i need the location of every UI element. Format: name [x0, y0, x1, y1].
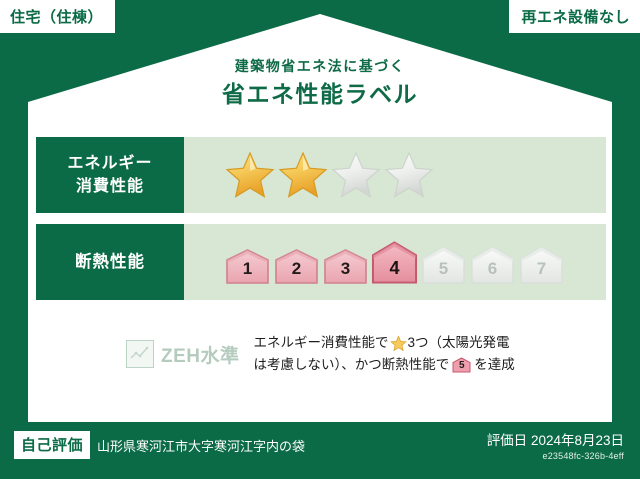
insulation-grade-5: 5	[420, 244, 467, 286]
star-filled-icon	[224, 149, 276, 201]
row-energy-label-line1: エネルギー	[67, 155, 152, 172]
insulation-grade-7: 7	[518, 244, 565, 286]
footer-left: 自己評価 山形県寒河江市大字寒河江字内の袋	[14, 431, 305, 459]
insulation-grade-1: 1	[224, 246, 271, 286]
building-type-tag-label: 住宅（住棟）	[10, 6, 103, 27]
insulation-grade-2: 2	[273, 246, 320, 286]
zeh-criteria-line1-suffix: 3つ（太陽光発電	[408, 332, 510, 354]
insulation-grade-4-number: 4	[371, 258, 418, 279]
insulation-grade-5-number: 5	[420, 259, 467, 279]
building-type-tag: 住宅（住棟）	[0, 0, 115, 33]
row-energy-label-line2: 消費性能	[76, 178, 144, 195]
row-energy-consumption-label: エネルギー 消費性能	[36, 137, 184, 213]
page-title: 建築物省エネ法に基づく 省エネ性能ラベル	[0, 56, 640, 109]
property-address: 山形県寒河江市大字寒河江字内の袋	[97, 436, 305, 455]
evaluation-id: e23548fc-326b-4eff	[487, 451, 624, 461]
zeh-criteria-line1-prefix: エネルギー消費性能で	[254, 332, 389, 354]
zeh-label: ZEH水準	[161, 341, 240, 368]
insulation-grade-1-number: 1	[224, 259, 271, 279]
zeh-badge: ZEH水準	[126, 340, 240, 368]
zeh-note: ZEH水準 エネルギー消費性能で 3つ（太陽光発電 は考慮しない）、かつ断熱性能…	[126, 332, 515, 376]
evaluation-date: 評価日 2024年8月23日	[487, 429, 624, 449]
insulation-grade-scale: 1 2 3	[224, 239, 565, 286]
title-subtitle: 建築物省エネ法に基づく	[0, 56, 640, 76]
footer: 自己評価 山形県寒河江市大字寒河江字内の袋 評価日 2024年8月23日 e23…	[0, 422, 640, 479]
zeh-criteria-line-2: は考慮しない）、かつ断熱性能で 5 を達成	[254, 354, 515, 376]
title-main: 省エネ性能ラベル	[0, 79, 640, 109]
insulation-grade-4: 4	[371, 239, 418, 286]
inline-house-icon: 5	[452, 357, 471, 373]
star-filled-icon	[277, 149, 329, 201]
insulation-grade-3-number: 3	[322, 259, 369, 279]
insulation-grade-6-number: 6	[469, 259, 516, 279]
inline-house-grade: 5	[459, 356, 465, 374]
self-assessment-badge: 自己評価	[14, 431, 90, 459]
renewable-energy-tag: 再エネ設備なし	[509, 0, 640, 33]
insulation-grade-6: 6	[469, 244, 516, 286]
insulation-grade-7-number: 7	[518, 259, 565, 279]
zeh-criteria-line-1: エネルギー消費性能で 3つ（太陽光発電	[254, 332, 515, 354]
insulation-grade-2-number: 2	[273, 259, 320, 279]
insulation-grade-3: 3	[322, 246, 369, 286]
star-rating	[224, 149, 435, 201]
zeh-chart-icon	[126, 340, 154, 368]
renewable-energy-tag-label: 再エネ設備なし	[521, 6, 630, 27]
inline-star-icon	[390, 335, 407, 352]
row-insulation: 断熱性能 1	[36, 224, 606, 300]
row-insulation-label: 断熱性能	[36, 224, 184, 300]
row-insulation-label-text: 断熱性能	[75, 251, 145, 274]
zeh-criteria-line2-suffix: を達成	[474, 354, 515, 376]
energy-performance-label: 住宅（住棟） 再エネ設備なし 建築物省エネ法に基づく 省エネ性能ラベル エネルギ…	[0, 0, 640, 479]
row-energy-consumption-body	[184, 137, 606, 213]
star-empty-icon	[383, 149, 435, 201]
zeh-criteria-text: エネルギー消費性能で 3つ（太陽光発電 は考慮しない）、かつ断熱性能で 5 を達…	[254, 332, 515, 376]
row-energy-consumption: エネルギー 消費性能	[36, 137, 606, 213]
footer-right: 評価日 2024年8月23日 e23548fc-326b-4eff	[487, 429, 624, 461]
row-insulation-body: 1 2 3	[184, 224, 606, 300]
metrics-panel: エネルギー 消費性能	[36, 137, 606, 311]
star-empty-icon	[330, 149, 382, 201]
zeh-criteria-line2-prefix: は考慮しない）、かつ断熱性能で	[254, 354, 450, 376]
